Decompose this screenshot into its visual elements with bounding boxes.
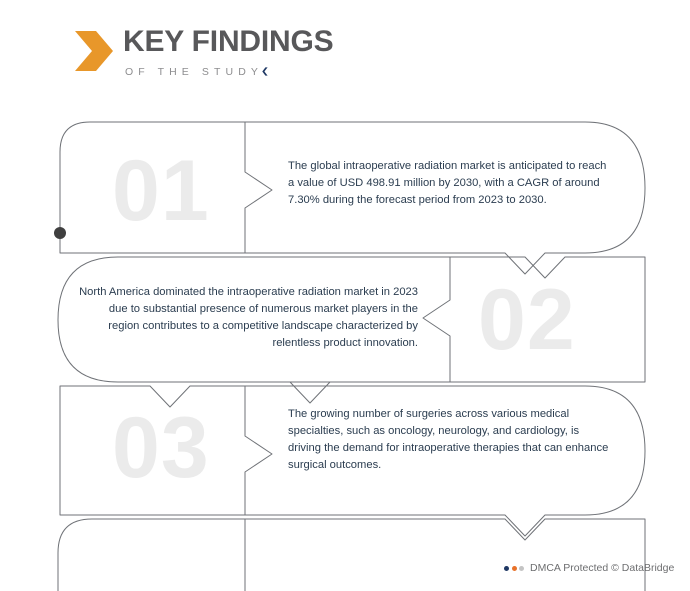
card-text: The growing number of surgeries across v… bbox=[288, 406, 610, 474]
card-number: 01 bbox=[112, 148, 210, 234]
dot-gray bbox=[519, 566, 524, 571]
card-number: 02 bbox=[478, 277, 576, 363]
dot-blue bbox=[504, 566, 509, 571]
dot-orange bbox=[512, 566, 517, 571]
card-text: North America dominated the intraoperati… bbox=[78, 284, 418, 352]
card-number: 03 bbox=[112, 405, 210, 491]
dmca-label: DMCA Protected © DataBridge bbox=[530, 562, 674, 574]
dmca-dots-icon bbox=[504, 566, 524, 571]
card-text: The global intraoperative radiation mark… bbox=[288, 158, 610, 209]
footer-dmca-badge[interactable]: DMCA Protected © DataBridge bbox=[504, 562, 674, 574]
